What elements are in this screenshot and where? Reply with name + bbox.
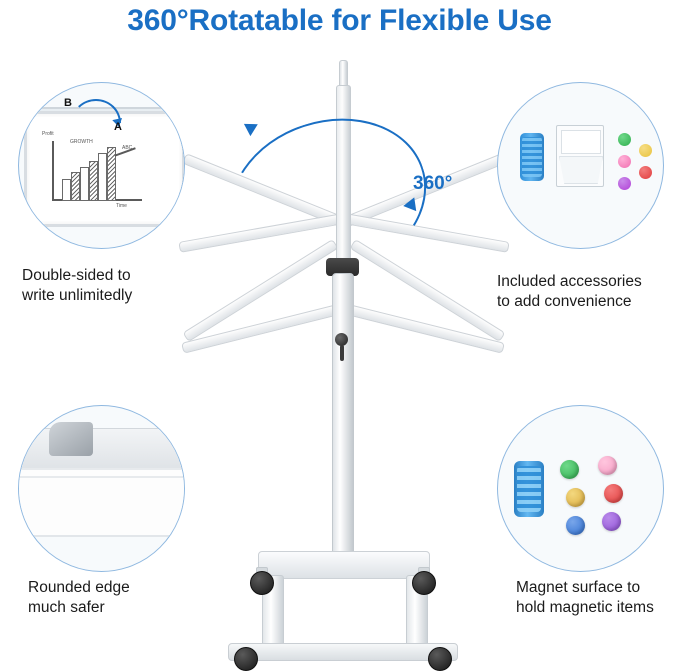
magnet-pink [618,155,631,168]
magnet-yellow [566,488,585,507]
magnetic-eraser [514,461,544,517]
sketch-bar [62,179,71,201]
magnet-purple [602,512,621,531]
callout-rounded-edge [18,405,185,572]
rotation-label: 360° [413,173,452,195]
callout-double-sided: Profit GROWTH ABC Time B A [18,82,185,249]
caption-magnet-surface: Magnet surface to hold magnetic items [516,578,679,619]
caption-line-2: hold magnetic items [516,598,679,618]
product-illustration: 360° [150,55,530,655]
caster-wheel [412,571,436,595]
caption-line-1: Double-sided to [22,266,222,286]
caption-double-sided: Double-sided to write unlimitedly [22,266,222,307]
caption-line-1: Rounded edge [28,578,208,598]
sketch-bar [71,172,80,201]
caster-wheel [428,647,452,671]
sketch-y-axis [52,141,54,199]
flip-arrow [71,99,121,123]
magnet-purple [618,177,631,190]
magnet-pink [598,456,617,475]
caption-line-2: much safer [28,598,208,618]
magnet-red [639,166,652,179]
main-column [332,273,354,565]
sketch-ylabel: Profit [42,131,54,137]
accessory-tray [556,125,604,187]
rounded-corner-cap [49,422,93,456]
caster-wheel [234,647,258,671]
caption-rounded-edge: Rounded edge much safer [28,578,208,619]
magnet-yellow [639,144,652,157]
sketch-xlabel: Time [116,203,127,209]
frame-edge-line [18,468,185,470]
sketch-bar [98,153,107,201]
caption-line-2: write unlimitedly [22,286,222,306]
side-label-b: B [64,97,72,109]
base-crossbar [258,551,430,579]
magnet-blue [566,516,585,535]
rotation-arrow-left [240,118,258,136]
whiteboard-front-panel: Profit GROWTH ABC Time [24,111,185,227]
side-label-a: A [114,121,122,133]
height-adjust-stem [340,345,344,361]
magnet-red [604,484,623,503]
frame-edge-line [18,476,185,478]
product-feature-infographic: 360°Rotatable for Flexible Use [0,0,679,657]
page-title: 360°Rotatable for Flexible Use [0,4,679,38]
callout-magnet-surface [497,405,664,572]
sketch-bar [89,161,98,201]
callout-accessories [497,82,664,249]
sketch-title: GROWTH [70,139,93,145]
aluminium-frame [18,428,185,470]
sketch-bar [80,167,89,201]
magnet-green [560,460,579,479]
caption-line-1: Magnet surface to [516,578,679,598]
magnetic-eraser [520,133,544,181]
caption-accessories: Included accessories to add convenience [497,272,679,313]
magnet-green [618,133,631,146]
caption-line-2: to add convenience [497,292,679,312]
base-foot-bar [228,643,458,661]
caption-line-1: Included accessories [497,272,679,292]
whiteboard-surface: Profit GROWTH ABC Time [30,117,179,221]
caster-wheel [250,571,274,595]
